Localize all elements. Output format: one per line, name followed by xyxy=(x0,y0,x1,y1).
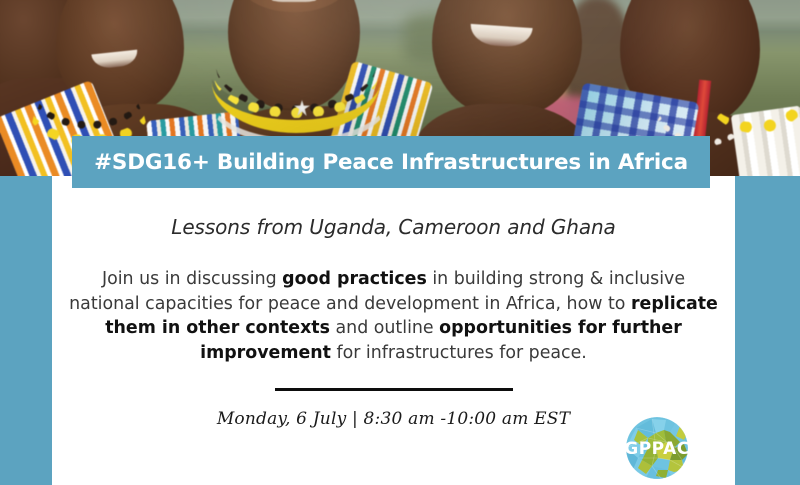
title-banner: #SDG16+ Building Peace Infrastructures i… xyxy=(72,136,710,188)
body-paragraph: Join us in discussing good practices in … xyxy=(52,239,735,366)
body-text-6: for infrastructures for peace. xyxy=(331,343,587,363)
poster-root: #SDG16+ Building Peace Infrastructures i… xyxy=(0,0,800,485)
globe-icon: GPPAC xyxy=(618,414,696,482)
gppac-logo: GPPAC xyxy=(618,414,696,482)
photo-necklace-yellow-center xyxy=(212,32,380,133)
body-text-4: and outline xyxy=(330,318,439,338)
decorative-band-left xyxy=(0,176,52,485)
gppac-wordmark: GPPAC xyxy=(624,439,689,459)
body-text-0: Join us in discussing xyxy=(102,269,282,289)
photo-necklace-yellow-left xyxy=(26,60,152,147)
page-subtitle: Lessons from Uganda, Cameroon and Ghana xyxy=(52,188,735,239)
decorative-band-right xyxy=(735,176,800,485)
page-title: #SDG16+ Building Peace Infrastructures i… xyxy=(94,150,688,175)
body-emphasis-1: good practices xyxy=(282,269,427,289)
